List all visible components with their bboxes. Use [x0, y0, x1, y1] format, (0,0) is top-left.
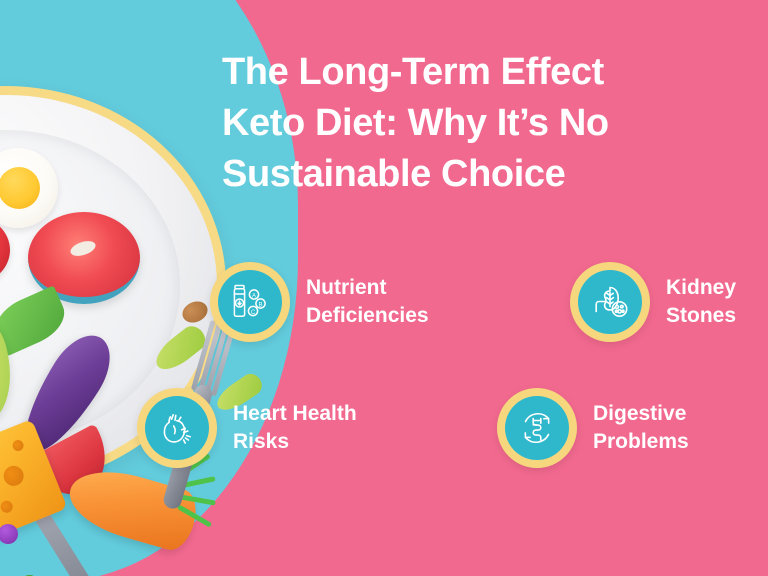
- feature-label-line-2: Problems: [593, 428, 689, 456]
- svg-text:C: C: [251, 310, 256, 316]
- page-title-line-3: Sustainable Choice: [222, 149, 768, 200]
- feature-label-digestive-problems: Digestive Problems: [593, 400, 689, 455]
- feature-label-line-2: Stones: [666, 302, 736, 330]
- badge-core: [145, 396, 209, 460]
- feature-label-line-1: Digestive: [593, 400, 689, 428]
- feature-label-line-2: Deficiencies: [306, 302, 429, 330]
- intestines-cycle-icon: [516, 407, 558, 449]
- feature-label-line-1: Kidney: [666, 274, 736, 302]
- badge-heart-health-risks[interactable]: [137, 388, 217, 468]
- feature-item-kidney-stones[interactable]: Kidney Stones: [570, 262, 736, 342]
- badge-core: [578, 270, 642, 334]
- svg-text:A: A: [252, 293, 256, 299]
- page-title: The Long-Term Effect Keto Diet: Why It’s…: [222, 47, 768, 199]
- page-title-line-2: Keto Diet: Why It’s No: [222, 98, 768, 149]
- infographic-canvas: The Long-Term Effect Keto Diet: Why It’s…: [0, 0, 768, 576]
- feature-item-nutrient-deficiencies[interactable]: A B C Nutrient Deficiencies: [210, 262, 429, 342]
- feature-label-line-1: Heart Health: [233, 400, 357, 428]
- feature-label-line-2: Risks: [233, 428, 357, 456]
- supplement-bottle-vitamins-icon: A B C: [229, 281, 271, 323]
- svg-text:B: B: [258, 302, 262, 308]
- feature-label-line-1: Nutrient: [306, 274, 429, 302]
- feature-label-heart-health-risks: Heart Health Risks: [233, 400, 357, 455]
- badge-core: [505, 396, 569, 460]
- badge-core: A B C: [218, 270, 282, 334]
- badge-kidney-stones[interactable]: [570, 262, 650, 342]
- page-title-line-1: The Long-Term Effect: [222, 47, 768, 98]
- badge-digestive-problems[interactable]: [497, 388, 577, 468]
- heart-lightning-icon: [156, 407, 198, 449]
- feature-item-heart-health-risks[interactable]: Heart Health Risks: [137, 388, 357, 468]
- badge-nutrient-deficiencies[interactable]: A B C: [210, 262, 290, 342]
- feature-item-digestive-problems[interactable]: Digestive Problems: [497, 388, 689, 468]
- feature-label-kidney-stones: Kidney Stones: [666, 274, 736, 329]
- feature-label-nutrient-deficiencies: Nutrient Deficiencies: [306, 274, 429, 329]
- kidney-stones-icon: [589, 281, 631, 323]
